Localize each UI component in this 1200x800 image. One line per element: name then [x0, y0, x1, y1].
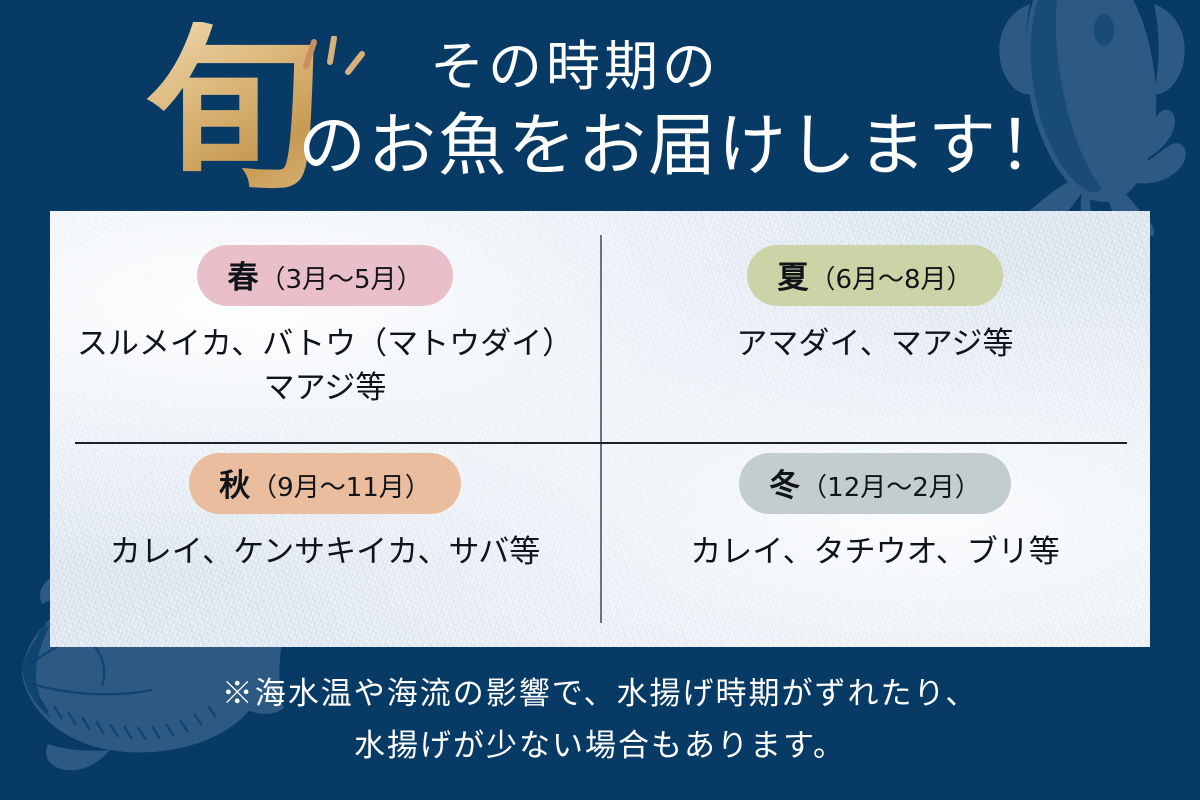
season-cell-spring: 春 （3月〜5月） スルメイカ、バトウ（マトウダイ） マアジ等 — [50, 245, 600, 410]
season-fish-spring-line1: スルメイカ、バトウ（マトウダイ） — [66, 322, 584, 366]
sparkle-icon — [290, 36, 368, 110]
season-name-spring: 春 — [227, 252, 259, 297]
season-fish-summer-line1: アマダイ、マアジ等 — [616, 322, 1134, 366]
season-badge-autumn: 秋 （9月〜11月） — [189, 453, 461, 514]
season-badge-spring: 春 （3月〜5月） — [197, 245, 452, 306]
season-months-summer: （6月〜8月） — [809, 259, 972, 296]
footnote-line-2: 水揚げが少ない場合もあります。 — [0, 720, 1200, 772]
season-badge-summer: 夏 （6月〜8月） — [747, 245, 1002, 306]
season-fish-autumn-line1: カレイ、ケンサキイカ、サバ等 — [66, 530, 584, 574]
footnote: ※海水温や海流の影響で、水揚げ時期がずれたり、 水揚げが少ない場合もあります。 — [0, 668, 1200, 772]
headline-line-2: のお魚をお届けします！ — [298, 110, 1068, 184]
season-badge-winter: 冬 （12月〜2月） — [739, 453, 1011, 514]
season-fish-spring: スルメイカ、バトウ（マトウダイ） マアジ等 — [50, 322, 600, 410]
poster-root: 旬 その時期の のお魚をお届けします！ 春 （3月〜5月） スルメイカ、バトウ（… — [0, 0, 1200, 800]
season-cell-winter: 冬 （12月〜2月） カレイ、タチウオ、ブリ等 — [600, 453, 1150, 574]
season-months-spring: （3月〜5月） — [259, 259, 422, 296]
season-name-autumn: 秋 — [219, 460, 251, 505]
headline-line-1: その時期の — [430, 38, 720, 96]
season-fish-autumn: カレイ、ケンサキイカ、サバ等 — [50, 530, 600, 574]
divider-horizontal — [75, 442, 1127, 444]
season-cell-autumn: 秋 （9月〜11月） カレイ、ケンサキイカ、サバ等 — [50, 453, 600, 574]
season-fish-spring-line2: マアジ等 — [66, 366, 584, 410]
headline-block: 旬 その時期の のお魚をお届けします！ — [0, 0, 1200, 210]
season-fish-winter-line1: カレイ、タチウオ、ブリ等 — [616, 530, 1134, 574]
season-months-autumn: （9月〜11月） — [251, 467, 431, 504]
season-fish-summer: アマダイ、マアジ等 — [600, 322, 1150, 366]
season-panel: 春 （3月〜5月） スルメイカ、バトウ（マトウダイ） マアジ等 夏 （6月〜8月… — [50, 211, 1150, 647]
season-name-winter: 冬 — [769, 460, 801, 505]
season-cell-summer: 夏 （6月〜8月） アマダイ、マアジ等 — [600, 245, 1150, 366]
season-name-summer: 夏 — [777, 252, 809, 297]
season-fish-winter: カレイ、タチウオ、ブリ等 — [600, 530, 1150, 574]
footnote-line-1: ※海水温や海流の影響で、水揚げ時期がずれたり、 — [0, 668, 1200, 720]
season-months-winter: （12月〜2月） — [801, 467, 981, 504]
